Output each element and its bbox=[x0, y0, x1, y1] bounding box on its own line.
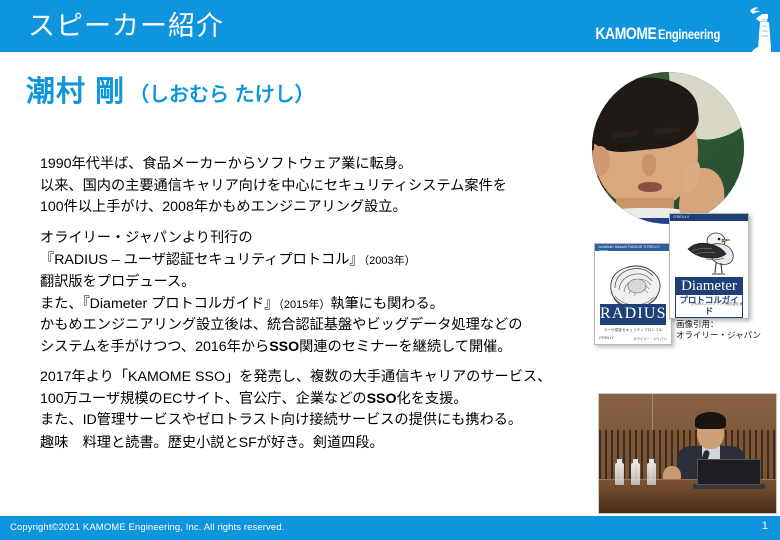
bio-line: 2017年より「KAMOME SSO」を発売し、複数の大手通信キャリアのサービス… bbox=[40, 367, 551, 389]
book-title-band: Diameter プロトコルガイド bbox=[675, 277, 743, 319]
bio-line-tail: 執筆にも関わる。 bbox=[330, 296, 444, 312]
book-imprint-credit: オライリー・ジャパン bbox=[633, 336, 667, 341]
bio-line: 1990年代半ば、食品メーカーからソフトウェア業に転身。 bbox=[40, 154, 507, 176]
book-footer: O'REILLY オライリー・ジャパン bbox=[599, 336, 667, 341]
book-title-band: RADIUS bbox=[600, 304, 666, 325]
bio-line: 100件以上手がけ、2008年かもめエンジニアリング設立。 bbox=[40, 197, 507, 219]
book-title-diameter: また、『Diameter プロトコルガイド』 bbox=[40, 296, 278, 312]
bio-line-tail: 関連のセミナーを継続して開催。 bbox=[299, 339, 511, 355]
bio-paragraph-books: オライリー・ジャパンより刊行の 『RADIUS – ユーザ認証セキュリティプロト… bbox=[40, 228, 444, 316]
sso-keyword: SSO bbox=[269, 339, 299, 355]
book-author-credit: かもめエンジニアリング株式会社 著 bbox=[691, 301, 743, 306]
book-publisher-label: O'REILLY bbox=[673, 215, 689, 219]
portrait-mouth bbox=[638, 182, 662, 192]
portrait-nose bbox=[642, 154, 656, 176]
speaker-name-row: 潮村 剛（しおむら たけし） bbox=[26, 68, 315, 110]
book-publisher-mark: O'REILLY bbox=[599, 336, 614, 341]
book-title: RADIUS bbox=[600, 306, 666, 322]
avatar bbox=[592, 72, 744, 224]
seagull-illustration-icon bbox=[676, 225, 742, 279]
book-publisher-label: Jonathan Hassell RADIUS O'REILLY Japan bbox=[598, 245, 671, 253]
bio-line: 翻訳版をプロデュース。 bbox=[40, 272, 444, 294]
bio-line: また、ID管理サービスやゼロトラスト向け接続サービスの提供にも携わる。 bbox=[40, 410, 551, 432]
kamome-logo: KAMOMEEngineering bbox=[576, 2, 772, 52]
logo-suffix-text: Engineering bbox=[658, 26, 720, 42]
book-year-diameter: （2015年） bbox=[278, 299, 330, 311]
bio-line-head: システムを手がけつつ、2016年から bbox=[40, 339, 269, 355]
seminar-laptop bbox=[697, 459, 761, 485]
water-bottle bbox=[631, 463, 640, 485]
book-subtitle: プロトコルガイド bbox=[676, 295, 742, 317]
water-bottle bbox=[647, 463, 656, 485]
seminar-speaker-hair bbox=[695, 412, 726, 429]
bio-line: システムを手がけつつ、2016年からSSO関連のセミナーを継続して開催。 bbox=[40, 337, 522, 359]
image-credit: 画像引用： オライリー・ジャパン bbox=[676, 319, 761, 341]
book-top-band: Jonathan Hassell RADIUS O'REILLY Japan bbox=[595, 244, 671, 251]
bio-paragraph-hobby: 趣味 料理と読書。歴史小説とSFが好き。剣道四段。 bbox=[40, 433, 384, 455]
book-title: Diameter bbox=[675, 278, 743, 294]
book-subtitle: ユーザ認証セキュリティプロトコル bbox=[600, 328, 666, 333]
bio-line: 以来、国内の主要通信キャリア向けを中心にセキュリティシステム案件を bbox=[40, 176, 507, 198]
bio-line-head: 100万ユーザ規模のECサイト、官公庁、企業などの bbox=[40, 391, 367, 407]
footer-page-number: 1 bbox=[762, 520, 768, 532]
water-bottle bbox=[615, 463, 624, 485]
book-year-radius: （2003年） bbox=[364, 255, 416, 267]
bottle-cap bbox=[617, 459, 622, 464]
book-cover-radius: Jonathan Hassell RADIUS O'REILLY Japan R… bbox=[594, 243, 672, 345]
bio-line-tail: 化を支援。 bbox=[397, 391, 468, 407]
bio-line: 趣味 料理と読書。歴史小説とSFが好き。剣道四段。 bbox=[40, 433, 384, 455]
bio-line: オライリー・ジャパンより刊行の bbox=[40, 228, 444, 250]
bio-line: 『RADIUS – ユーザ認証セキュリティプロトコル』（2003年） bbox=[40, 250, 444, 273]
logo-wordmark: KAMOMEEngineering bbox=[582, 24, 736, 44]
book-top-band: O'REILLY bbox=[670, 214, 748, 221]
bio-paragraph-product: 2017年より「KAMOME SSO」を発売し、複数の大手通信キャリアのサービス… bbox=[40, 367, 551, 432]
bio-paragraph-company: かもめエンジニアリング設立後は、統合認証基盤やビッグデータ処理などの システムを… bbox=[40, 315, 522, 358]
slide-footer-bar: Copyright©2021 KAMOME Engineering, Inc. … bbox=[0, 516, 780, 540]
sso-keyword: SSO bbox=[367, 391, 397, 407]
portrait-eye-right bbox=[656, 139, 673, 146]
portrait-eye-left bbox=[616, 143, 633, 150]
seagull-lighthouse-icon bbox=[732, 2, 772, 54]
book-cover-diameter: O'REILLY Diameter プロトコルガイド かもめエンジニアリング株式… bbox=[669, 213, 749, 319]
bio-line: かもめエンジニアリング設立後は、統合認証基盤やビッグデータ処理などの bbox=[40, 315, 522, 337]
speaker-name: 潮村 剛 bbox=[26, 76, 125, 108]
book-title-radius: 『RADIUS – ユーザ認証セキュリティプロトコル』 bbox=[40, 252, 364, 268]
bottle-cap bbox=[649, 459, 654, 464]
logo-brand-text: KAMOME bbox=[595, 24, 656, 44]
bio-paragraph-career: 1990年代半ば、食品メーカーからソフトウェア業に転身。 以来、国内の主要通信キ… bbox=[40, 154, 507, 219]
seminar-wall-seam bbox=[652, 394, 653, 432]
bio-line: 100万ユーザ規模のECサイト、官公庁、企業などのSSO化を支援。 bbox=[40, 389, 551, 411]
bottle-cap bbox=[633, 459, 638, 464]
image-credit-source: オライリー・ジャパン bbox=[676, 330, 761, 341]
bio-line: また、『Diameter プロトコルガイド』（2015年）執筆にも関わる。 bbox=[40, 294, 444, 317]
speaker-name-kana: （しおむら たけし） bbox=[129, 84, 315, 106]
page-title: スピーカー紹介 bbox=[28, 9, 224, 43]
footer-copyright: Copyright©2021 KAMOME Engineering, Inc. … bbox=[10, 522, 284, 533]
seminar-photo bbox=[598, 393, 777, 514]
image-credit-label: 画像引用： bbox=[676, 319, 761, 330]
